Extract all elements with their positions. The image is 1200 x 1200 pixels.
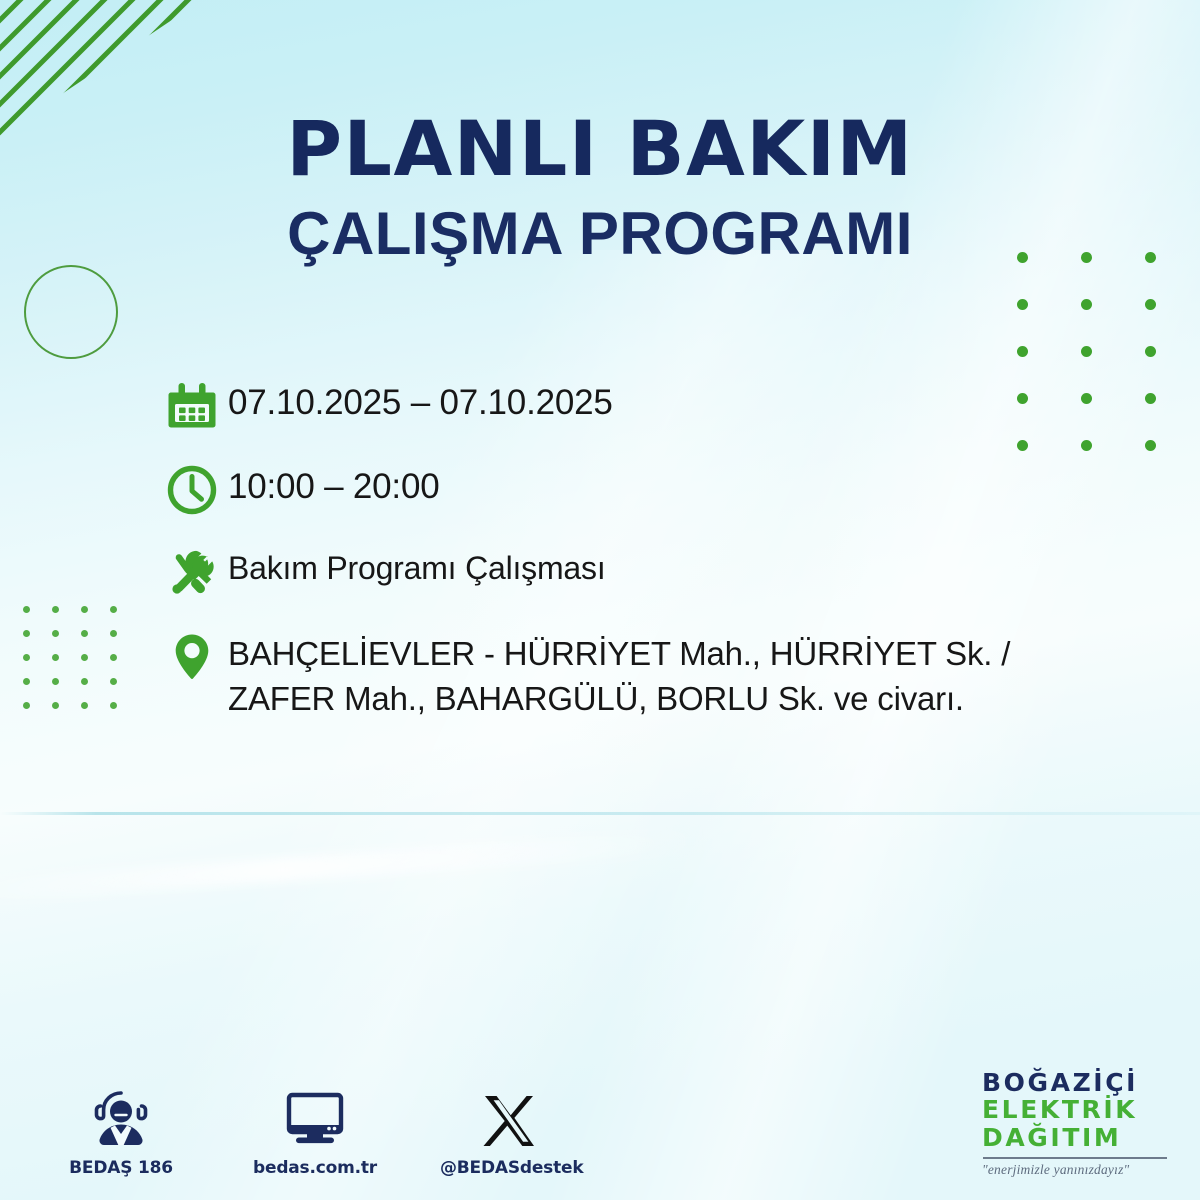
dot	[52, 606, 59, 613]
page-title-line-2: ÇALIŞMA PROGRAMI	[0, 202, 1200, 265]
dot	[23, 606, 30, 613]
background-wave-highlight	[0, 829, 700, 906]
dot	[110, 606, 117, 613]
brand-logo-line-2: ELEKTRİK	[982, 1096, 1178, 1124]
detail-row-time-range: 10:00 – 20:00	[166, 462, 1106, 516]
contact-label-call-center: BEDAŞ 186	[69, 1158, 173, 1178]
outage-details-list: 07.10.2025 – 07.10.2025 10:00 – 20:00	[166, 378, 1106, 722]
dot	[52, 702, 59, 709]
detail-text-work-type: Bakım Programı Çalışması	[228, 546, 606, 590]
dot	[52, 654, 59, 661]
dot	[1145, 393, 1156, 404]
background-horizon-line	[0, 812, 1200, 815]
dot	[110, 654, 117, 661]
dot	[81, 702, 88, 709]
calendar-icon	[166, 378, 228, 432]
dot	[81, 678, 88, 685]
dot-grid-left-decoration	[12, 597, 128, 717]
dot	[1145, 299, 1156, 310]
contact-call-center[interactable]: BEDAŞ 186	[52, 1087, 190, 1178]
clock-icon	[166, 462, 228, 516]
dot	[1017, 346, 1028, 357]
monitor-icon	[246, 1087, 384, 1149]
dot	[1081, 346, 1092, 357]
dot	[23, 630, 30, 637]
contact-label-website: bedas.com.tr	[253, 1158, 377, 1178]
dot	[110, 678, 117, 685]
contact-label-x-account: @BEDASdestek	[440, 1158, 583, 1178]
detail-row-date-range: 07.10.2025 – 07.10.2025	[166, 378, 1106, 432]
brand-logo-divider	[983, 1157, 1167, 1159]
brand-logo: BOĞAZİÇİ ELEKTRİK DAĞITIM "enerjimizle y…	[982, 1069, 1178, 1179]
detail-text-date-range: 07.10.2025 – 07.10.2025	[228, 378, 613, 426]
circle-outline-decoration	[24, 265, 118, 359]
dot	[1145, 346, 1156, 357]
contact-x-account[interactable]: @BEDASdestek	[440, 1087, 578, 1178]
brand-logo-tagline: "enerjimizle yanınızdayız"	[982, 1162, 1178, 1178]
dot	[110, 630, 117, 637]
brand-logo-line-1: BOĞAZİÇİ	[982, 1069, 1178, 1097]
dot	[81, 630, 88, 637]
footer-contact-list: BEDAŞ 186 bedas.com.tr @B	[52, 1087, 578, 1178]
dot	[81, 606, 88, 613]
tools-icon	[166, 546, 228, 600]
dot	[52, 678, 59, 685]
poster-canvas: PLANLI BAKIM ÇALIŞMA PROGRAMI	[0, 0, 1200, 1200]
headset-support-icon	[52, 1087, 190, 1149]
contact-website[interactable]: bedas.com.tr	[246, 1087, 384, 1178]
page-title-line-1: PLANLI BAKIM	[0, 110, 1200, 188]
dot	[23, 702, 30, 709]
dot	[1081, 299, 1092, 310]
dot	[81, 654, 88, 661]
dot	[23, 654, 30, 661]
dot	[52, 630, 59, 637]
dot	[110, 702, 117, 709]
detail-row-location: BAHÇELİEVLER - HÜRRİYET Mah., HÜRRİYET S…	[166, 630, 1106, 722]
dot	[1017, 299, 1028, 310]
brand-logo-line-3: DAĞITIM	[982, 1124, 1178, 1152]
dot	[23, 678, 30, 685]
page-title: PLANLI BAKIM ÇALIŞMA PROGRAMI	[0, 110, 1200, 265]
location-pin-icon	[166, 630, 228, 684]
detail-row-work-type: Bakım Programı Çalışması	[166, 546, 1106, 600]
detail-text-time-range: 10:00 – 20:00	[228, 462, 440, 510]
dot	[1145, 440, 1156, 451]
detail-text-location: BAHÇELİEVLER - HÜRRİYET Mah., HÜRRİYET S…	[228, 630, 1106, 722]
x-twitter-icon	[440, 1087, 578, 1149]
